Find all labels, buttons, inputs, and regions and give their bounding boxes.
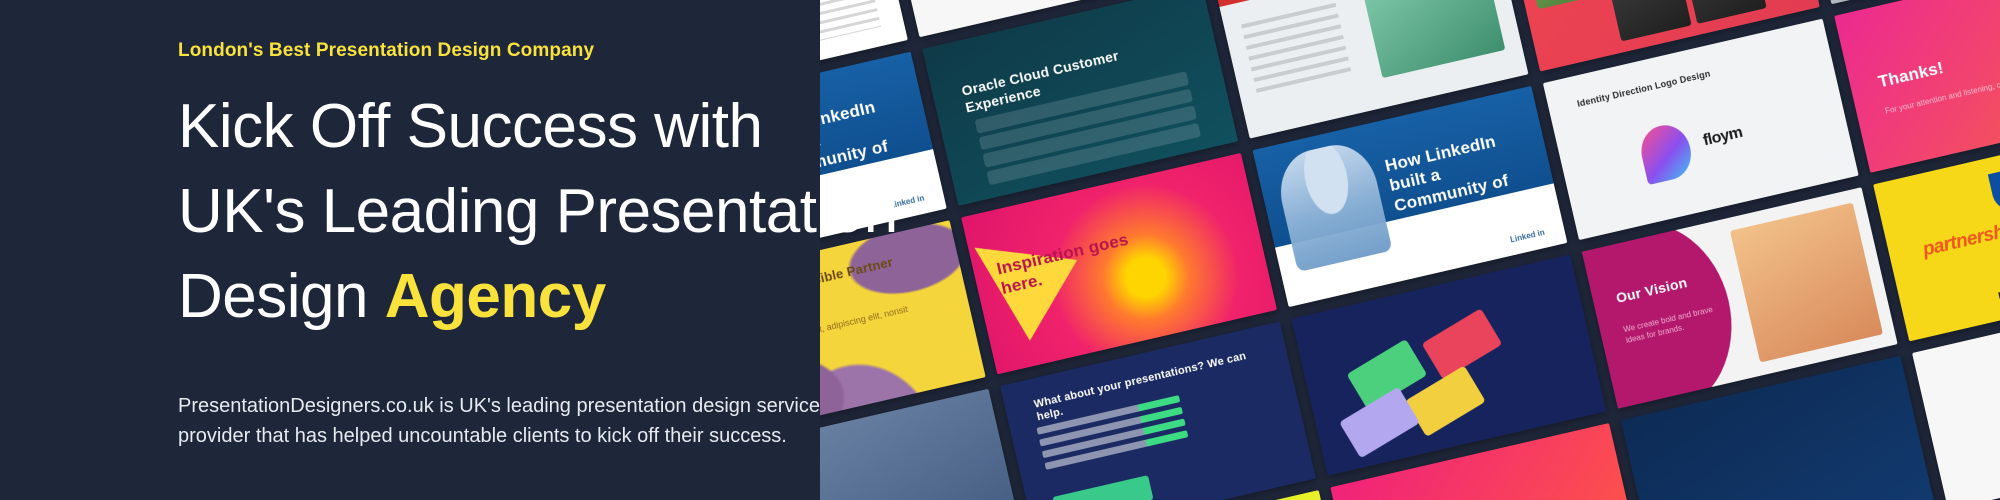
hero-description-line-1: PresentationDesigners.co.uk is UK's lead… [178, 391, 918, 421]
slide-title: Identity Direction Logo Design [1576, 46, 1807, 110]
hero-description: PresentationDesigners.co.uk is UK's lead… [178, 391, 918, 451]
headline-line-2: UK's Leading Presentation [178, 169, 968, 254]
eyebrow-text: London's Best Presentation Design Compan… [178, 40, 968, 62]
headline-line-3: Design Agency [178, 254, 968, 339]
headline-line-3-plain: Design [178, 262, 385, 331]
decor-blob [1582, 207, 1750, 409]
photo-thumb [1362, 0, 1505, 78]
floym-wordmark: floym [1701, 124, 1744, 150]
collage-grid: Plan of everyday lifeWho is SparkToro Fo… [820, 0, 2000, 500]
slide-title: Thanks! [1876, 20, 2000, 93]
photo-card-row [1609, 0, 1767, 41]
headline-line-1: Kick Off Success with [178, 84, 968, 169]
hero-banner: Plan of everyday lifeWho is SparkToro Fo… [0, 0, 2000, 500]
slide-title: partnership [1921, 190, 2000, 262]
hero-description-line-2: provider that has helped uncountable cli… [178, 421, 918, 451]
hero-copy: London's Best Presentation Design Compan… [178, 40, 968, 451]
photo-thumb [1730, 203, 1883, 363]
unilever-logo-icon [1988, 164, 2000, 215]
photo-thumb [1519, 0, 1610, 9]
slide-thumbnail: Thanks!For your attention and listening,… [1834, 0, 2000, 173]
slide-tag: Linked in [1509, 228, 1545, 245]
text-lines [1241, 3, 1353, 97]
photo-figure [1272, 137, 1393, 272]
slide-title: How LinkedIn built a Community of Half a… [1383, 126, 1536, 238]
page-title: Kick Off Success with UK's Leading Prese… [178, 84, 968, 339]
floym-logo-icon [1636, 120, 1696, 184]
cta-block [1052, 475, 1153, 500]
headline-accent-word: Agency [385, 262, 606, 331]
slide-title: Inspiration goes here. [995, 226, 1149, 300]
slide-collage: Plan of everyday lifeWho is SparkToro Fo… [820, 0, 2000, 500]
